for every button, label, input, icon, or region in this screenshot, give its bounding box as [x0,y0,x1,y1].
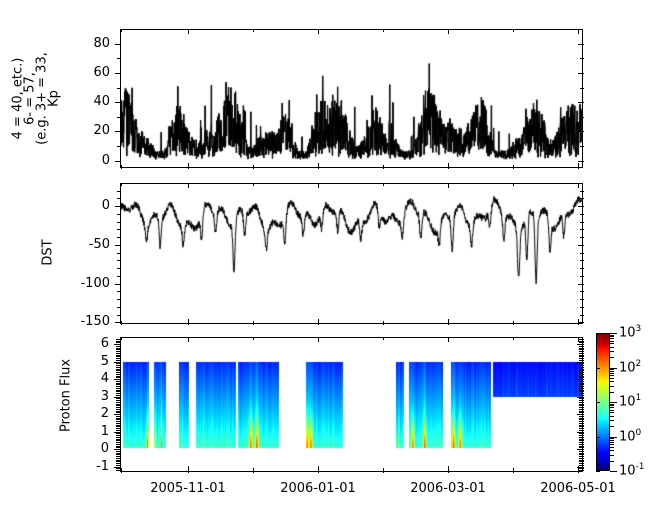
axis-tick [121,165,122,169]
axis-tick [253,337,254,340]
axis-tick [116,360,121,361]
axis-tick [577,449,584,450]
axis-tick [610,351,614,352]
axis-tick [115,161,121,162]
axis-tick [116,423,121,424]
axis-tick [188,466,189,473]
axis-tick [610,369,614,370]
axis-tick [579,411,584,412]
axis-tick [580,117,584,118]
axis-tick [116,418,121,419]
axis-tick [580,222,584,223]
axis-tick [116,425,121,426]
axis-tick [610,416,614,417]
axis-tick [610,375,614,376]
axis-tick [115,44,121,45]
axis-tick-label: 5 [0,354,109,369]
axis-tick [116,419,121,420]
axis-tick [579,447,584,448]
axis-tick [579,365,584,366]
axis-tick [383,165,384,169]
axis-tick [117,268,121,269]
axis-tick [579,444,584,445]
axis-tick [610,335,614,336]
axis-tick [579,398,584,399]
axis-tick [116,351,121,352]
axis-tick [116,453,121,454]
axis-tick [610,338,614,339]
axis-tick [448,319,449,325]
axis-tick [580,307,584,308]
axis-tick [117,276,121,277]
axis-tick [116,416,121,417]
axis-tick [117,260,121,261]
axis-tick [580,58,584,59]
axis-tick [579,409,584,410]
axis-tick [116,388,121,389]
axis-tick [318,337,319,342]
axis-tick [580,291,584,292]
colorbar-tick-label: 10-1 [619,462,645,478]
axis-tick [610,455,614,456]
axis-tick [610,378,614,379]
axis-tick [579,461,584,462]
axis-tick [117,237,121,238]
axis-tick [116,456,121,457]
axis-tick [253,29,254,32]
axis-tick [580,253,584,254]
axis-tick [578,163,579,169]
axis-tick [579,435,584,436]
axis-tick [121,468,122,473]
axis-tick [117,198,121,199]
axis-tick [610,440,614,441]
axis-tick [579,383,584,384]
axis-tick [253,468,254,473]
colorbar-tick-label: 101 [619,393,641,409]
axis-tick [579,454,584,455]
axis-tick [117,307,121,308]
axis-tick [579,468,584,469]
axis-tick [448,183,449,188]
axis-tick [596,437,600,438]
axis-tick [253,183,254,186]
axis-tick [579,356,584,357]
axis-tick [579,453,584,454]
axis-tick [117,229,121,230]
axis-tick [116,370,121,371]
axis-tick [580,198,584,199]
axis-tick [579,404,584,405]
axis-tick [115,102,121,103]
axis-tick [116,405,121,406]
axis-tick [610,444,614,445]
axis-tick [579,460,584,461]
axis-tick [579,437,584,438]
axis-tick [448,163,449,169]
axis-tick [579,348,584,349]
axis-tick [610,471,617,472]
axis-tick [318,319,319,325]
axis-tick [578,73,584,74]
axis-tick [117,291,121,292]
axis-tick [578,206,584,207]
axis-tick [116,447,121,448]
axis-tick [580,88,584,89]
axis-tick [580,268,584,269]
x-axis-tick-label: 2006-05-01 [534,481,622,496]
axis-tick [116,369,121,370]
figure-root: 020406080 Kp(e.g. 3+ = 33,6- = 57,4 = 40… [0,0,665,523]
axis-tick [579,407,584,408]
axis-tick [116,428,121,429]
axis-tick-label: 3 [0,389,109,404]
axis-tick [116,341,121,342]
axis-tick [579,416,584,417]
axis-tick [116,374,121,375]
axis-tick [579,465,584,466]
axis-tick [116,391,121,392]
axis-tick [116,440,121,441]
axis-tick [121,29,122,32]
axis-tick [579,349,584,350]
axis-tick [318,29,319,34]
axis-tick [610,333,617,334]
axis-tick [116,421,121,422]
axis-tick [116,386,121,387]
axis-tick [578,245,584,246]
axis-tick [579,395,584,396]
axis-tick [116,402,121,403]
axis-tick [448,337,449,342]
axis-tick [117,315,121,316]
axis-tick [610,450,614,451]
x-axis-tick-label: 2006-03-01 [404,481,492,496]
axis-tick [116,365,121,366]
axis-tick [579,360,584,361]
axis-tick [580,260,584,261]
colorbar-tick-label: 102 [619,359,641,375]
axis-tick [579,405,584,406]
axis-tick [116,346,121,347]
axis-tick [116,358,121,359]
axis-tick-label: 0 [0,441,109,456]
axis-tick [121,337,122,340]
axis-tick [579,377,584,378]
axis-tick [188,29,189,34]
axis-tick [318,183,319,188]
axis-tick [579,418,584,419]
axis-tick [116,404,121,405]
axis-tick [610,447,614,448]
axis-tick [610,412,614,413]
axis-tick [610,381,614,382]
axis-tick [579,351,584,352]
axis-tick [513,183,514,186]
axis-tick [117,117,121,118]
axis-tick [117,253,121,254]
axis-tick [318,163,319,169]
axis-tick [117,191,121,192]
axis-tick [116,395,121,396]
axis-tick [116,353,121,354]
axis-tick [580,299,584,300]
axis-tick [116,430,121,431]
axis-tick [116,444,121,445]
panel-proton-flux [120,337,583,472]
axis-tick [578,183,579,188]
axis-tick [580,276,584,277]
x-axis-tick-label: 2005-11-01 [144,481,232,496]
axis-tick [578,319,579,325]
axis-tick [116,461,121,462]
axis-tick [116,460,121,461]
axis-tick [513,29,514,32]
axis-tick [383,321,384,325]
axis-tick [610,405,614,406]
axis-tick [116,451,121,452]
axis-tick [579,355,584,356]
axis-tick [610,392,614,393]
axis-tick [610,371,614,372]
axis-tick [610,442,614,443]
panel-kp [120,29,583,168]
axis-tick [383,183,384,186]
axis-tick [579,342,584,343]
axis-tick [610,426,614,427]
axis-tick [116,435,121,436]
axis-tick [117,146,121,147]
axis-tick [116,407,121,408]
axis-tick [579,341,584,342]
axis-tick [116,442,121,443]
axis-tick [116,439,121,440]
axis-tick [580,214,584,215]
axis-tick [253,321,254,325]
axis-tick [579,456,584,457]
axis-tick [579,463,584,464]
axis-tick [121,321,122,325]
axis-tick [579,391,584,392]
axis-tick [121,183,122,186]
axis-tick [579,440,584,441]
axis-tick [579,439,584,440]
axis-tick [580,229,584,230]
axis-tick [188,183,189,188]
axis-tick [188,337,189,342]
axis-tick [116,463,121,464]
axis-tick [580,237,584,238]
axis-tick [579,412,584,413]
axis-tick [579,428,584,429]
axis-tick [448,29,449,34]
axis-tick-label: 2 [0,406,109,421]
axis-tick [578,337,579,342]
panel-dst [120,183,583,324]
axis-tick [579,369,584,370]
axis-tick [579,470,584,471]
axis-tick-label: 6 [0,336,109,351]
axis-tick [579,451,584,452]
axis-tick [116,376,121,377]
axis-tick [610,402,617,403]
axis-tick-label: 1 [0,424,109,439]
axis-tick [610,420,614,421]
axis-tick [579,381,584,382]
axis-tick-label: -1 [0,459,109,474]
axis-tick [596,368,600,369]
axis-tick [116,446,121,447]
axis-tick [115,131,121,132]
axis-tick [116,367,121,368]
axis-tick [580,315,584,316]
axis-tick [116,398,121,399]
axis-tick [580,146,584,147]
axis-tick [579,425,584,426]
axis-tick [116,348,121,349]
axis-tick [116,384,121,385]
axis-tick [114,379,121,380]
axis-tick [610,336,614,337]
axis-tick [116,411,121,412]
kp-y-axis-label-line-3: 4 = 40, etc.) [11,24,26,174]
axis-tick [253,165,254,169]
axis-tick [610,373,614,374]
axis-tick [610,357,614,358]
axis-tick [577,379,584,380]
axis-tick [579,419,584,420]
axis-tick [578,44,584,45]
kp-series-plot [121,30,582,167]
axis-tick [513,165,514,169]
axis-tick [115,206,121,207]
axis-tick [579,386,584,387]
axis-tick [114,414,121,415]
axis-tick [116,400,121,401]
axis-tick [578,466,579,473]
axis-tick [610,343,614,344]
axis-tick [579,384,584,385]
axis-tick [116,409,121,410]
axis-tick [115,284,121,285]
axis-tick [115,245,121,246]
axis-tick-label: -150 [0,314,110,329]
axis-tick [579,353,584,354]
axis-tick [116,437,121,438]
axis-tick [114,344,121,345]
axis-tick [513,468,514,473]
axis-tick [579,421,584,422]
axis-tick [579,400,584,401]
axis-tick [579,363,584,364]
axis-tick [610,410,614,411]
axis-tick [578,131,584,132]
axis-tick [577,344,584,345]
colorbar-tick-label: 100 [619,428,641,444]
axis-tick [579,423,584,424]
axis-tick [579,339,584,340]
axis-tick [596,333,600,334]
axis-tick [448,466,449,473]
axis-tick [116,342,121,343]
axis-tick [115,73,121,74]
axis-tick [318,466,319,473]
axis-tick [116,383,121,384]
axis-tick [117,299,121,300]
axis-tick [579,346,584,347]
axis-tick [116,363,121,364]
axis-tick [114,449,121,450]
axis-tick [117,88,121,89]
axis-tick [117,214,121,215]
axis-tick [188,163,189,169]
axis-tick [579,374,584,375]
axis-tick [577,414,584,415]
axis-tick [610,438,614,439]
axis-tick [116,372,121,373]
axis-tick [579,393,584,394]
axis-tick [610,407,614,408]
axis-tick [610,461,614,462]
axis-tick [596,402,600,403]
axis-tick [117,58,121,59]
axis-tick [116,393,121,394]
axis-tick [578,284,584,285]
axis-tick [116,454,121,455]
axis-tick [579,446,584,447]
axis-tick [578,102,584,103]
axis-tick [579,402,584,403]
axis-tick [579,367,584,368]
axis-tick [579,426,584,427]
axis-tick [579,388,584,389]
x-axis-tick-label: 2006-01-01 [274,481,362,496]
axis-tick [579,372,584,373]
axis-tick [116,465,121,466]
axis-tick [116,356,121,357]
proton-flux-spectrogram [121,338,582,471]
axis-tick [116,349,121,350]
axis-tick [579,358,584,359]
axis-tick [116,377,121,378]
axis-tick [383,337,384,340]
axis-tick [116,390,121,391]
axis-tick-label: 4 [0,371,109,386]
axis-tick [579,430,584,431]
axis-tick [383,468,384,473]
axis-tick [116,433,121,434]
axis-tick [610,347,614,348]
axis-tick [578,29,579,34]
axis-tick [579,370,584,371]
axis-tick [117,222,121,223]
axis-tick [188,319,189,325]
axis-tick [116,458,121,459]
axis-tick [513,321,514,325]
dst-series-plot [121,184,582,323]
axis-tick [383,29,384,32]
axis-tick [116,355,121,356]
axis-tick [116,412,121,413]
axis-tick [578,161,584,162]
axis-tick [580,191,584,192]
axis-tick-label: 0 [0,198,110,213]
axis-tick [579,390,584,391]
axis-tick [579,433,584,434]
axis-tick [513,337,514,340]
dst-y-axis-label: DST [41,223,56,283]
axis-tick [610,341,614,342]
